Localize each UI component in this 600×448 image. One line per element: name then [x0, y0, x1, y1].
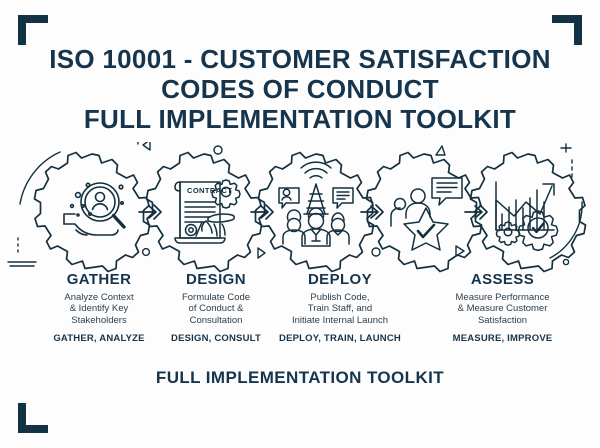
user-speech-bubble-left — [279, 188, 299, 208]
decor-circle-3 — [372, 248, 380, 256]
footer-title: FULL IMPLEMENTATION TOOLKIT — [0, 368, 600, 388]
contract-signing-gear-icon: CONTRACT — [175, 180, 240, 243]
broadcast-tower — [304, 184, 328, 214]
step-desc-line: & Measure Customer — [420, 303, 585, 315]
gear-outline — [35, 153, 150, 272]
decor-dot — [71, 205, 74, 208]
hand-holding-magnifier-person-icon — [64, 183, 124, 235]
decor-circle-4 — [563, 259, 568, 264]
document-text-lines — [185, 202, 215, 222]
step-assess: ASSESS Measure Performance & Measure Cus… — [420, 272, 585, 344]
document-seal-core — [189, 228, 193, 232]
decor-circle-2 — [143, 249, 150, 256]
pen-body — [208, 214, 234, 222]
process-gear-chain: CONTRACT — [0, 142, 600, 282]
growth-chart-gear-check-icon — [496, 182, 558, 250]
flow-arrow-2 — [251, 205, 273, 219]
decor-triangle-4 — [456, 246, 464, 256]
step-description: Measure Performance & Measure Customer S… — [420, 292, 585, 328]
decor-dot — [121, 202, 123, 204]
decor-triangle-3 — [436, 146, 445, 155]
step-description: Publish Code, Train Staff, and Initiate … — [255, 292, 425, 328]
person-body-back — [391, 208, 400, 226]
title-line-3: FULL IMPLEMENTATION TOOLKIT — [0, 104, 600, 134]
step-title: DEPLOY — [255, 272, 425, 289]
decor-triangle-1 — [143, 142, 150, 150]
step-desc-line: Publish Code, — [255, 292, 425, 304]
bracket-horizontal-stroke — [18, 425, 48, 433]
decor-corner-mark — [118, 142, 138, 144]
decor-dot — [76, 193, 81, 198]
decor-lines-left — [8, 262, 36, 266]
step-desc-line: Satisfaction — [420, 315, 585, 327]
gear-1-gather — [35, 153, 150, 272]
hand-palm — [64, 224, 118, 235]
step-desc-line: Train Staff, and — [255, 303, 425, 315]
team-broadcast-tower-icon — [279, 162, 353, 246]
message-speech-bubble-right — [333, 188, 353, 208]
signal-waves — [301, 162, 331, 178]
decor-dot — [86, 183, 89, 186]
infographic-canvas: ISO 10001 - CUSTOMER SATISFACTION CODES … — [0, 0, 600, 448]
feedback-speech-bubble — [432, 178, 462, 205]
person-head-center — [309, 214, 324, 229]
title-line-2: CODES OF CONDUCT — [0, 74, 600, 104]
gear-chain-svg: CONTRACT — [0, 142, 600, 282]
hand-fingers — [202, 221, 225, 236]
check-mark — [418, 225, 434, 237]
document-seal — [186, 225, 197, 236]
small-gear-badge — [496, 222, 519, 245]
step-desc-line: Measure Performance — [420, 292, 585, 304]
corner-bracket-top-right-icon — [552, 15, 582, 45]
team-people-group — [283, 208, 349, 246]
corner-bracket-bottom-left-icon — [18, 403, 48, 433]
gear-2-design: CONTRACT — [147, 153, 262, 272]
customer-star-rating-icon — [391, 178, 462, 250]
process-step-list: GATHER Analyze Context & Identify Key St… — [0, 272, 600, 352]
person-head-front — [411, 189, 425, 203]
flow-arrow-4 — [465, 205, 487, 219]
step-title: ASSESS — [420, 272, 585, 289]
decor-dot — [77, 214, 79, 216]
decor-dot — [119, 185, 123, 189]
decor-arc-right — [550, 202, 582, 258]
flow-arrow-3 — [361, 205, 383, 219]
decor-dot — [82, 205, 84, 207]
hand-cuff — [64, 214, 75, 224]
page-title: ISO 10001 - CUSTOMER SATISFACTION CODES … — [0, 44, 600, 134]
gear-3-deploy — [259, 153, 374, 272]
star-shape — [404, 208, 448, 250]
decor-plus-right — [561, 144, 571, 152]
person-head — [96, 193, 105, 202]
step-keywords: DEPLOY, TRAIN, LAUNCH — [255, 333, 425, 344]
decor-triangle-2 — [258, 248, 265, 258]
decor-arc-left — [20, 152, 60, 204]
title-line-1: ISO 10001 - CUSTOMER SATISFACTION — [0, 44, 600, 74]
step-deploy: DEPLOY Publish Code, Train Staff, and In… — [255, 272, 425, 344]
flow-arrow-1 — [139, 205, 161, 219]
step-desc-line: Initiate Internal Launch — [255, 315, 425, 327]
decor-circle-1 — [214, 146, 222, 154]
person-body-front — [406, 203, 430, 218]
person-body — [93, 204, 108, 210]
person-tie-center — [311, 229, 321, 241]
step-keywords: MEASURE, IMPROVE — [420, 333, 585, 344]
bracket-horizontal-stroke — [18, 15, 48, 23]
corner-bracket-top-left-icon — [18, 15, 48, 45]
magnifier-handle — [114, 216, 125, 228]
gear-outline — [259, 153, 374, 272]
bracket-horizontal-stroke — [552, 15, 582, 23]
